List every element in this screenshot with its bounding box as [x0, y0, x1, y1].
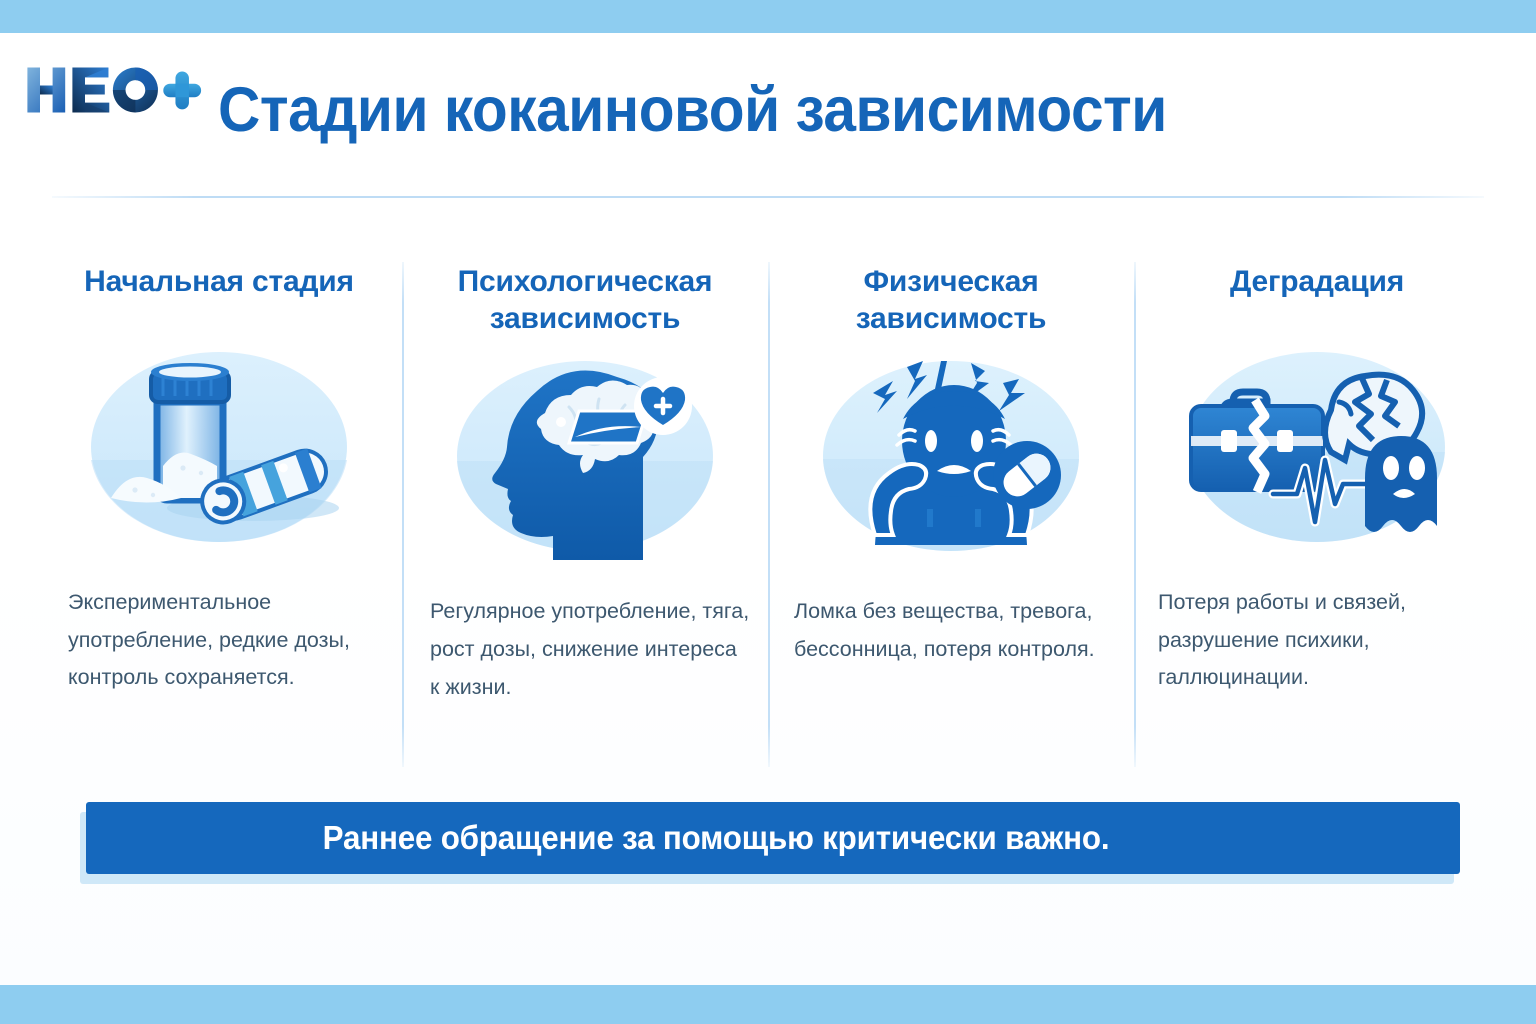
stage-title-2: Психологическая зависимость — [420, 250, 750, 337]
withdrawal-headache-person-icon — [815, 349, 1087, 563]
stage-title-1: Начальная стадия — [84, 250, 354, 328]
banner-text: Раннее обращение за помощью критически в… — [120, 819, 1425, 857]
infographic-poster: Стадии кокаиновой зависимости Начальная … — [0, 0, 1536, 1024]
stages-row: Начальная стадия — [36, 250, 1500, 770]
header: Стадии кокаиновой зависимости — [0, 33, 1536, 197]
title-divider — [52, 196, 1484, 198]
stage-text-3: Ломка без вещества, тревога, бессонница,… — [786, 593, 1116, 668]
broken-briefcase-brain-ghost-icon — [1181, 340, 1453, 554]
stage-text-2: Регулярное употребление, тяга, рост дозы… — [420, 593, 750, 706]
stage-column-2: Психологическая зависимость — [402, 250, 768, 770]
stage-text-1: Экспериментальное употребление, редкие д… — [54, 584, 384, 697]
stage-column-4: Деградация — [1134, 250, 1500, 770]
head-brain-craving-icon — [449, 349, 721, 563]
stage-text-4: Потеря работы и связей, разрушение психи… — [1152, 584, 1482, 697]
powder-jar-and-rolled-banknote-icon — [83, 340, 355, 554]
bottom-accent-bar — [0, 985, 1536, 1024]
top-accent-bar — [0, 0, 1536, 33]
stage-title-4: Деградация — [1230, 250, 1404, 328]
page-title: Стадии кокаиновой зависимости — [218, 79, 1334, 142]
call-to-action-banner: Раннее обращение за помощью критически в… — [86, 802, 1460, 874]
neo-plus-logo — [22, 59, 202, 121]
stage-title-3: Физическая зависимость — [786, 250, 1116, 337]
stage-column-1: Начальная стадия — [36, 250, 402, 770]
stage-column-3: Физическая зависимость — [768, 250, 1134, 770]
